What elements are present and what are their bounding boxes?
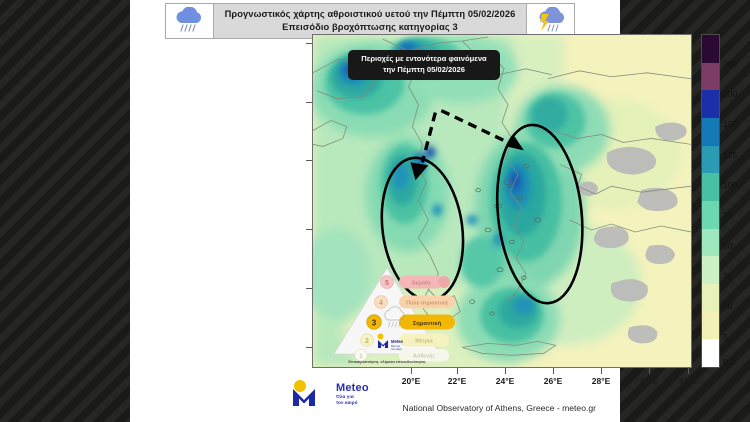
- colorbar-segment-6: [702, 173, 719, 201]
- x-tick-mark-26e: [553, 368, 554, 374]
- x-tick-label-26e: 26°E: [544, 376, 563, 386]
- colorbar-label-50: 50: [723, 241, 733, 251]
- colorbar-segment-2: [702, 284, 719, 312]
- colorbar-segment-0: [702, 339, 719, 367]
- callout-line1: Περιοχές με εντονότερα φαινόμενα: [354, 54, 494, 65]
- severity-inset-caption: Επικαιροποίηση: κλίμακα επικινδυνότητας: [348, 360, 425, 364]
- colorbar-label-125: 125: [723, 150, 737, 160]
- credit-text: National Observatory of Athens, Greece -…: [130, 403, 596, 413]
- x-tick-mark-24e: [505, 368, 506, 374]
- x-tick-label-30e: 30°E: [640, 376, 659, 386]
- y-tick-mark-44n: [306, 43, 312, 44]
- svg-text:Σημαντική: Σημαντική: [413, 321, 442, 327]
- colorbar-segment-3: [702, 256, 719, 284]
- thunderstorm-cloud-icon: [526, 4, 574, 38]
- colorbar-segment-8: [702, 118, 719, 146]
- colorbar-segment-10: [702, 63, 719, 91]
- x-tick-mark-22e: [457, 368, 458, 374]
- colorbar-label-300: 300: [723, 59, 737, 69]
- precipitation-colorbar[interactable]: [701, 34, 720, 368]
- header-title-block: Προγνωστικός χάρτης αθροιστικού υετού τη…: [214, 4, 526, 38]
- callout-line2: την Πέμπτη 05/02/2026: [354, 65, 494, 76]
- colorbar-label-75: 75: [723, 210, 733, 220]
- svg-text:2: 2: [365, 338, 369, 345]
- colorbar-label-100: 100: [723, 180, 737, 190]
- y-tick-mark-42n: [306, 102, 312, 103]
- annotation-callout: Περιοχές με εντονότερα φαινόμενα την Πέμ…: [348, 50, 500, 80]
- colorbar-label-02: 0.2: [723, 357, 735, 367]
- x-tick-label-22e: 22°E: [448, 376, 467, 386]
- map-title-line1: Προγνωστικός χάρτης αθροιστικού υετού τη…: [225, 8, 516, 21]
- svg-text:5: 5: [385, 280, 389, 287]
- x-tick-label-24e: 24°E: [496, 376, 515, 386]
- meteo-logo-name: Meteo: [336, 382, 369, 394]
- svg-text:1: 1: [359, 353, 363, 360]
- severity-scale-inset: 5 Ακραία 4 Πολύ σημαντική 3 Σημαντική: [316, 266, 458, 366]
- colorbar-label-25: 25: [723, 271, 733, 281]
- colorbar-segment-7: [702, 146, 719, 174]
- colorbar-segment-1: [702, 312, 719, 340]
- svg-text:Πολύ σημαντική: Πολύ σημαντική: [406, 301, 448, 307]
- colorbar-segment-5: [702, 201, 719, 229]
- colorbar-label-10: 10: [723, 301, 733, 311]
- svg-text:Ασθενής: Ασθενής: [413, 354, 435, 360]
- map-title-line2: Επεισόδιο βροχόπτωσης κατηγορίας 3: [282, 21, 458, 34]
- rain-cloud-icon: [166, 4, 214, 38]
- y-tick-mark-34n: [306, 347, 312, 348]
- svg-text:τον καιρό: τον καιρό: [391, 347, 402, 351]
- y-tick-mark-38n: [306, 229, 312, 230]
- colorbar-segment-9: [702, 90, 719, 118]
- colorbar-label-150: 150: [723, 119, 737, 129]
- x-tick-mark-28e: [601, 368, 602, 374]
- figure-panel: Προγνωστικός χάρτης αθροιστικού υετού τη…: [130, 0, 620, 422]
- svg-text:3: 3: [372, 318, 377, 327]
- x-tick-mark-32e: [688, 368, 689, 374]
- x-tick-label-28e: 28°E: [592, 376, 611, 386]
- x-tick-label-20e: 20°E: [402, 376, 421, 386]
- y-tick-mark-40n: [306, 160, 312, 161]
- y-tick-mark-36n: [306, 288, 312, 289]
- x-tick-label-32e: 32°E: [679, 376, 698, 386]
- x-tick-mark-20e: [411, 368, 412, 374]
- svg-text:4: 4: [379, 300, 383, 307]
- severity-level-5: 5 Ακραία: [381, 276, 450, 289]
- colorbar-label-5: 5: [723, 332, 728, 342]
- svg-text:Μέτρια: Μέτρια: [415, 339, 433, 345]
- colorbar-segment-4: [702, 229, 719, 257]
- svg-text:Ακραία: Ακραία: [411, 281, 431, 287]
- colorbar-segment-11: [702, 35, 719, 63]
- svg-text:Meteo: Meteo: [391, 339, 404, 344]
- x-tick-mark-30e: [649, 368, 650, 374]
- colorbar-label-200: 200: [723, 89, 737, 99]
